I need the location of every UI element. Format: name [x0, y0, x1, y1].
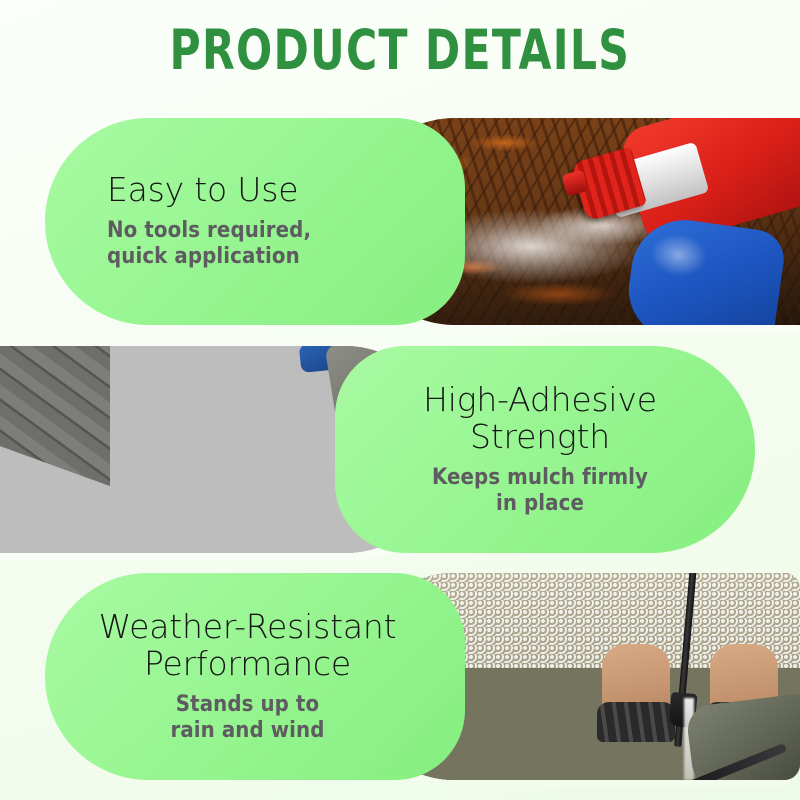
product-details-infographic: { "header": { "title": "PRODUCT DETAILS"… [0, 0, 800, 800]
feature-card-weather-resistant-performance: Weather-Resistant Performance Stands up … [0, 573, 800, 780]
feature-subtitle-3-line-2: rain and wind [170, 718, 324, 744]
feature-card-easy-to-use: Easy to Use No tools required, quick app… [0, 118, 800, 325]
feature-subtitle-3-line-1: Stands up to [170, 692, 324, 718]
sandal-left [597, 702, 675, 742]
feature-title-2-line-2: Strength [423, 419, 657, 456]
header: PRODUCT DETAILS [0, 0, 800, 100]
feature-subtitle-1: No tools required, quick application [107, 218, 311, 271]
feature-subtitle-3: Stands up to rain and wind [170, 692, 324, 745]
feature-text-panel-3: Weather-Resistant Performance Stands up … [45, 573, 465, 780]
feature-card-high-adhesive-strength: High-Adhesive Strength Keeps mulch firml… [0, 346, 800, 553]
feature-title-2-line-1: High-Adhesive [423, 382, 657, 419]
feature-subtitle-1-line-1: No tools required, [107, 218, 311, 244]
feature-title-3: Weather-Resistant Performance [99, 609, 397, 683]
feature-text-panel-2: High-Adhesive Strength Keeps mulch firml… [335, 346, 755, 553]
feature-text-panel-1: Easy to Use No tools required, quick app… [45, 118, 465, 325]
feature-title-1: Easy to Use [107, 172, 298, 209]
feature-title-3-line-1: Weather-Resistant [99, 609, 397, 646]
feature-subtitle-2-line-1: Keeps mulch firmly [432, 465, 648, 491]
feature-subtitle-2: Keeps mulch firmly in place [432, 465, 648, 518]
feature-title-2: High-Adhesive Strength [423, 382, 657, 456]
feature-subtitle-1-line-2: quick application [107, 244, 311, 270]
feature-title-3-line-2: Performance [99, 646, 397, 683]
feature-subtitle-2-line-2: in place [432, 491, 648, 517]
page-title: PRODUCT DETAILS [170, 18, 631, 82]
